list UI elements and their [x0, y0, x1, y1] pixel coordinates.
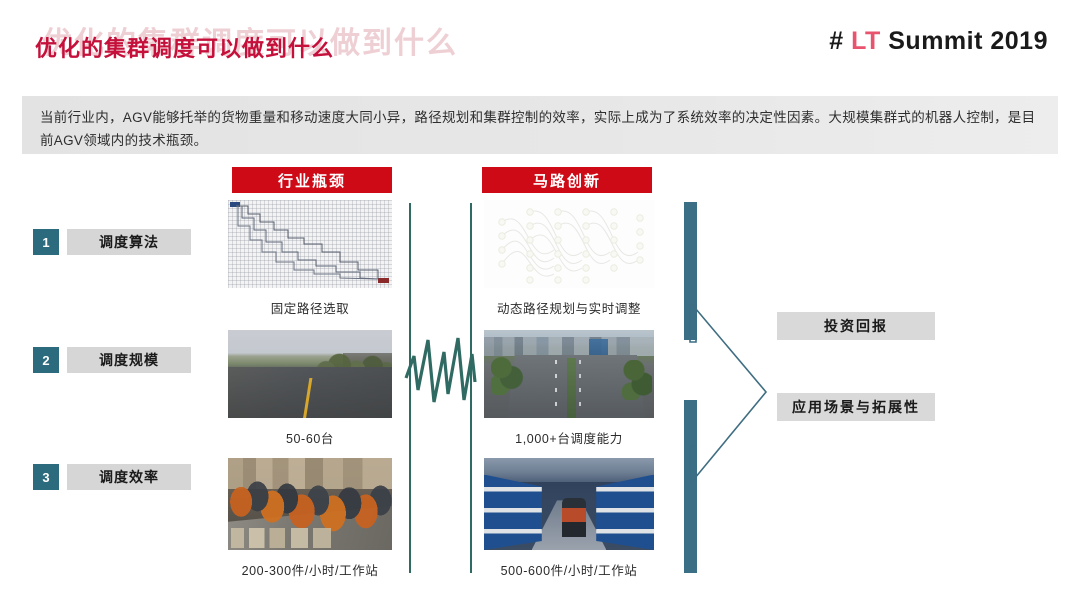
caption-row2-right: 1,000+台调度能力 [479, 428, 659, 447]
banner-road-innovation: 马路创新 [482, 167, 652, 193]
hash-icon: # [829, 27, 843, 55]
lane-markings-left-shape [555, 360, 557, 415]
row-badge-3: 3 [33, 464, 59, 490]
row-label-3: 3 调度效率 [33, 464, 191, 490]
warehouse-ceiling-shape [484, 458, 654, 482]
grid-path-lines-icon [228, 200, 392, 288]
row-badge-2: 2 [33, 347, 59, 373]
figure-manual-sorting-warehouse [228, 458, 392, 550]
caption-row1-left: 固定路径选取 [228, 298, 392, 317]
outcome-box-application-scenarios: 应用场景与拓展性 [777, 393, 935, 421]
page-title: 优化的集群调度可以做到什么 [35, 31, 334, 63]
row-label-2: 2 调度规模 [33, 347, 191, 373]
figure-single-lane-road [228, 330, 392, 418]
lightning-zigzag-icon [404, 330, 478, 420]
intro-paragraph: 当前行业内，AGV能够托举的货物重量和移动速度大同小异，路径规划和集群控制的效率… [22, 96, 1058, 154]
roadside-trees-left-shape [491, 356, 525, 395]
row-name-1: 调度算法 [67, 229, 191, 255]
event-logo: # LT Summit 2019 [829, 27, 1048, 56]
row-badge-1: 1 [33, 229, 59, 255]
presentation-slide: 优化的集群调度可以做到什么 优化的集群调度可以做到什么 # LT Summit … [0, 0, 1080, 610]
roadside-trees-right-shape [622, 360, 653, 400]
figure-multi-lane-aerial-road [484, 330, 654, 418]
row-name-3: 调度效率 [67, 464, 191, 490]
right-brace-icon [680, 296, 772, 490]
logo-lt-text: LT [851, 27, 881, 55]
figure-grid-path-diagram [228, 200, 392, 288]
warehouse-worker-shape [562, 498, 586, 537]
blue-shelf-left-shape [484, 475, 542, 550]
median-strip-shape [567, 358, 576, 418]
caption-row1-right: 动态路径规划与实时调整 [479, 298, 659, 317]
city-skyline-shape [484, 337, 654, 356]
row-name-2: 调度规模 [67, 347, 191, 373]
lane-markings-right-shape [579, 360, 581, 415]
neural-network-nodes-icon [484, 200, 654, 288]
banner-industry-bottleneck: 行业瓶颈 [232, 167, 392, 193]
figure-neural-network-diagram [484, 200, 654, 288]
figure-automated-warehouse [484, 458, 654, 550]
row-label-1: 1 调度算法 [33, 229, 191, 255]
caption-row2-left: 50-60台 [228, 428, 392, 447]
outcome-box-investment-return: 投资回报 [777, 312, 935, 340]
caption-row3-right: 500-600件/小时/工作站 [474, 560, 664, 579]
caption-row3-left: 200-300件/小时/工作站 [218, 560, 402, 579]
blue-shelf-right-shape [596, 475, 654, 550]
parcel-boxes-shape [231, 528, 359, 548]
logo-rest-text: Summit 2019 [888, 27, 1048, 55]
